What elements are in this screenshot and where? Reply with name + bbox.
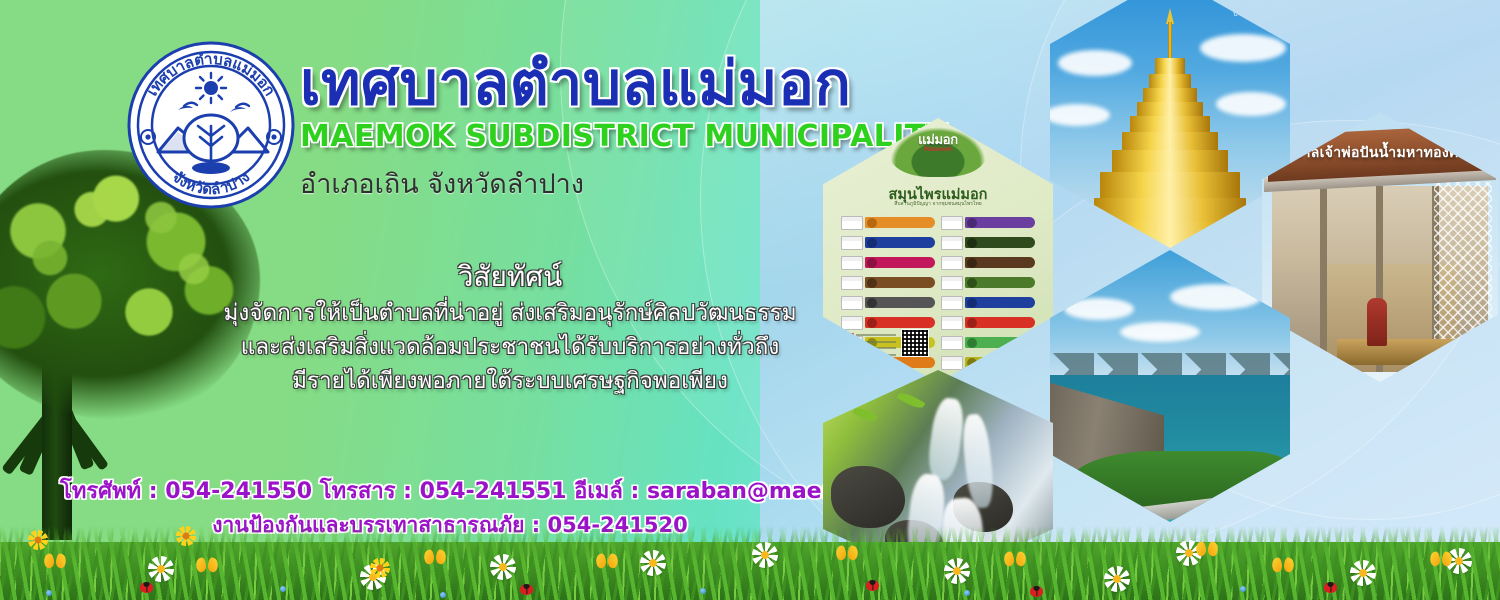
blue-dot-flower-icon (440, 592, 446, 598)
butterfly-icon (1196, 542, 1218, 556)
ladybug-icon (1030, 586, 1043, 597)
butterfly-icon (424, 550, 446, 564)
grass-flower-border (0, 524, 1500, 600)
butterfly-icon (1004, 552, 1026, 566)
butterfly-icon (44, 554, 66, 568)
poster-product-item (941, 294, 1035, 311)
poster-product-item (941, 254, 1035, 271)
vision-heading: วิสัยทัศน์ (180, 258, 840, 296)
butterfly-icon (196, 558, 218, 572)
vision-line: มีรายได้เพียงพอภายใต้ระบบเศรษฐกิจพอเพียง (180, 364, 840, 398)
poster-product-item (841, 234, 935, 251)
yellow-flower-icon (176, 526, 196, 546)
poster-subtitle: สืบสานภูมิปัญญา จากชุมชนสมุนไพรไทย (823, 200, 1053, 208)
poster-product-item (941, 234, 1035, 251)
poster-product-item (841, 294, 935, 311)
daisy-flower-icon (1104, 566, 1130, 592)
butterfly-icon (596, 554, 618, 568)
yellow-flower-icon (370, 558, 390, 578)
daisy-flower-icon (640, 550, 666, 576)
shrine-statue (1367, 298, 1387, 346)
butterfly-icon (836, 546, 858, 560)
poster-product-item (941, 314, 1035, 331)
page-title-english: MAEMOK SUBDISTRICT MUNICIPALITY (300, 119, 940, 154)
ladybug-icon (1324, 582, 1337, 593)
cloud-icon (1120, 322, 1200, 342)
pagoda-structure (1090, 33, 1250, 248)
daisy-flower-icon (1350, 560, 1376, 586)
vision-line: มุ่งจัดการให้เป็นตำบลที่น่าอยู่ ส่งเสริม… (180, 296, 840, 330)
blue-dot-flower-icon (280, 586, 286, 592)
ladybug-icon (866, 580, 879, 591)
daisy-flower-icon (752, 542, 778, 568)
ladybug-icon (140, 582, 153, 593)
poster-product-item (841, 214, 935, 231)
daisy-flower-icon (148, 556, 174, 582)
poster-product-item (841, 254, 935, 271)
butterfly-icon (1430, 552, 1452, 566)
blue-dot-flower-icon (46, 590, 52, 596)
vision-block: วิสัยทัศน์ มุ่งจัดการให้เป็นตำบลที่น่าอย… (180, 258, 840, 398)
poster-product-item (841, 274, 935, 291)
yellow-flower-icon (28, 530, 48, 550)
municipality-seal-logo: เทศบาลตำบลแม่มอก จังหวัดลำปาง (126, 40, 296, 210)
daisy-flower-icon (490, 554, 516, 580)
daisy-flower-icon (944, 558, 970, 584)
blue-dot-flower-icon (700, 588, 706, 594)
municipality-banner: เทศบาลตำบลแม่มอก จังหวัดลำปาง เทศบาลตำบล… (0, 0, 1500, 600)
qr-code-icon (901, 329, 929, 357)
poster-product-grid (841, 214, 1035, 339)
ladybug-icon (520, 584, 533, 595)
vision-line: และส่งเสริมสิ่งแวดล้อมประชาชนได้รับบริกา… (180, 330, 840, 364)
blue-dot-flower-icon (964, 590, 970, 596)
blue-dot-flower-icon (1240, 586, 1246, 592)
mesh-fence (1434, 182, 1492, 339)
poster-product-item (941, 214, 1035, 231)
page-title-thai: เทศบาลตำบลแม่มอก (300, 52, 940, 117)
butterfly-icon (1272, 558, 1294, 572)
poster-product-item (941, 274, 1035, 291)
contact-phone-fax-email[interactable]: โทรศัพท์ : 054-241550 โทรสาร : 054-24155… (60, 475, 840, 509)
